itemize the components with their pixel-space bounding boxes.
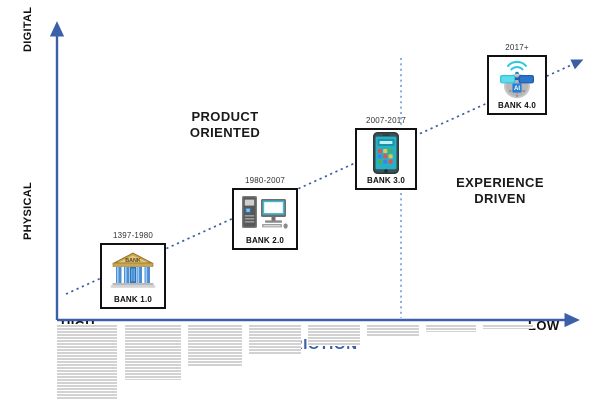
svg-text:AI: AI [514, 86, 520, 92]
stage-bank-1[interactable]: 1397-1980 BANK [100, 243, 166, 309]
stage-box-bank-1: BANK [100, 243, 166, 309]
bank-building-icon: BANK [102, 245, 164, 295]
stage-box-bank-2: BANK 2.0 [232, 188, 298, 250]
friction-bar [308, 324, 360, 346]
stage-box-bank-3: BANK 3.0 [355, 128, 417, 190]
stage-date-bank-3: 2007-2017 [366, 116, 406, 125]
friction-bar-group [57, 324, 577, 400]
friction-bar [249, 324, 301, 354]
stage-label-bank-1: BANK 1.0 [114, 295, 152, 305]
stage-bank-4[interactable]: 2017+ [487, 55, 547, 115]
friction-bar [125, 324, 181, 380]
stage-date-bank-4: 2017+ [505, 43, 528, 52]
diagram-canvas: DISTRIBUTION FRICTION DIGITAL PHYSICAL H… [0, 0, 600, 400]
stage-bank-3[interactable]: 2007-2017 [355, 128, 417, 190]
stage-label-bank-4: BANK 4.0 [498, 101, 536, 111]
y-axis-tick-physical: PHYSICAL [22, 182, 34, 240]
caption-experience-driven: EXPERIENCE DRIVEN [440, 175, 560, 207]
friction-bar [426, 324, 476, 332]
ai-smart-glasses-icon: AI [489, 57, 545, 101]
stage-box-bank-4: AI BANK 4.0 [487, 55, 547, 115]
friction-bar [483, 324, 533, 329]
friction-bar [188, 324, 242, 366]
stage-label-bank-2: BANK 2.0 [246, 236, 284, 246]
atm-and-desktop-computer-icon [234, 190, 296, 236]
stage-bank-2[interactable]: 1980-2007 [232, 188, 298, 250]
stage-date-bank-2: 1980-2007 [245, 176, 285, 185]
caption-product-oriented: PRODUCT ORIENTED [170, 109, 280, 141]
smartphone-icon [357, 130, 415, 176]
friction-bar [367, 324, 419, 336]
friction-bar [57, 324, 117, 400]
stage-label-bank-3: BANK 3.0 [367, 176, 405, 186]
y-axis-tick-digital: DIGITAL [22, 7, 34, 52]
stage-date-bank-1: 1397-1980 [113, 231, 153, 240]
